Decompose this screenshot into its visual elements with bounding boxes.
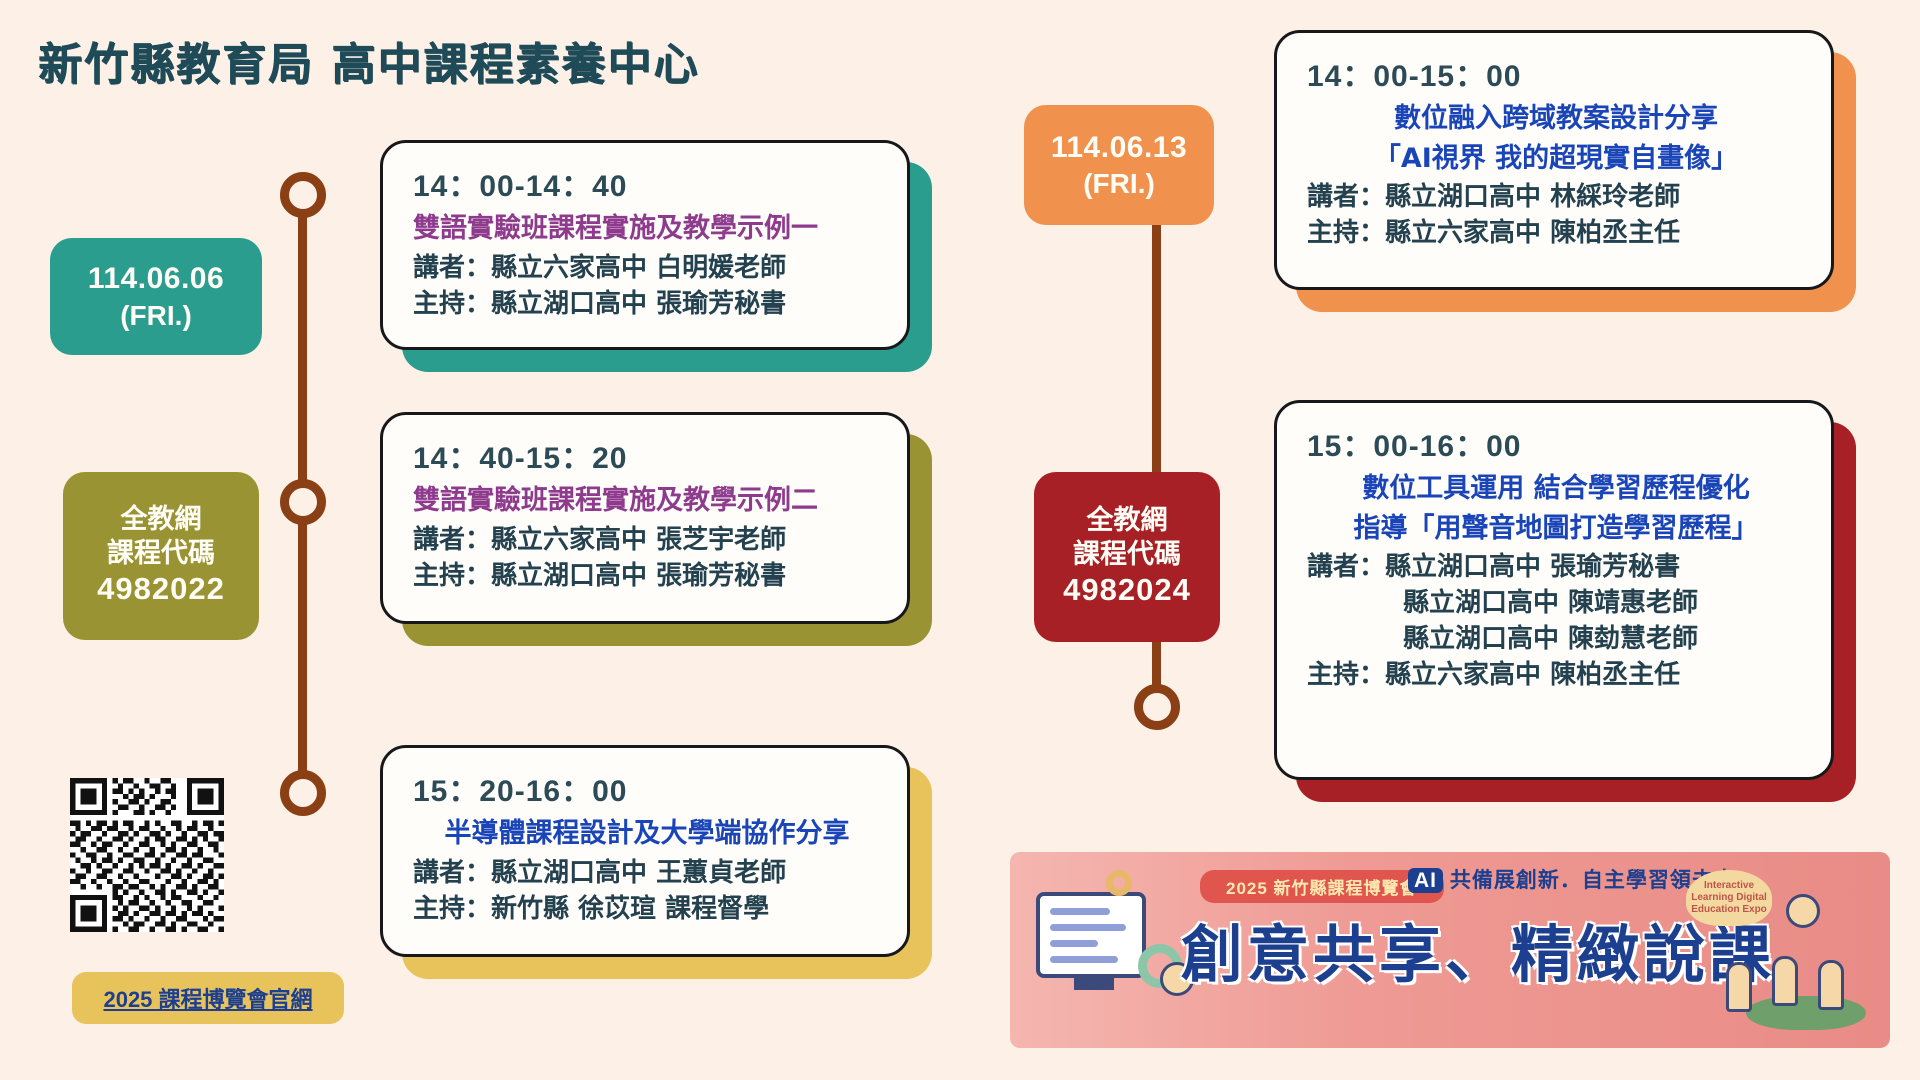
session-time: 15：20-16：00 — [413, 766, 881, 810]
session-speaker-row: 講者：縣立湖口高中 王蕙貞老師 — [413, 856, 881, 892]
session-host-row: 主持：縣立六家高中 陳柏丞主任 — [1307, 658, 1805, 694]
host-label: 主持： — [1307, 660, 1385, 690]
speaker-label: 講者： — [1307, 182, 1385, 212]
promo-banner[interactable]: 2025 新竹縣課程博覽會 AI 共備展創新．自主學習領未來 創意共享、精緻說課… — [1010, 852, 1890, 1048]
timeline-node-left-3 — [280, 770, 326, 816]
session-time: 14：00-14：40 — [413, 161, 881, 205]
monitor-icon — [1036, 892, 1146, 978]
poster-page: 新竹縣教育局 高中課程素養中心 114.06.06 (FRI.) 全教網 課程代… — [0, 0, 1920, 1080]
speaker-value: 縣立湖口高中 王蕙貞老師 — [491, 858, 786, 888]
speaker-value: 縣立六家高中 張芝宇老師 — [491, 525, 786, 555]
session-time: 15：00-16：00 — [1307, 421, 1805, 465]
session-card-left-2[interactable]: 14：40-15：20 雙語實驗班課程實施及教學示例二 講者：縣立六家高中 張芝… — [380, 412, 910, 624]
speaker-label: 講者： — [413, 253, 491, 283]
host-value: 新竹縣 徐苡瑄 課程督學 — [491, 894, 769, 924]
session-host-row: 主持：新竹縣 徐苡瑄 課程督學 — [413, 892, 881, 928]
session-speaker-row-3: 縣立湖口高中 陳勎慧老師 — [1307, 622, 1805, 658]
session-topic: 雙語實驗班課程實施及教學示例一 — [413, 211, 881, 247]
session-host-row: 主持：縣立湖口高中 張瑜芳秘書 — [413, 287, 881, 323]
host-value: 縣立湖口高中 張瑜芳秘書 — [491, 561, 786, 591]
course-code-right-value: 4982024 — [1063, 571, 1191, 610]
page-title: 新竹縣教育局 高中課程素養中心 — [38, 28, 699, 92]
session-speaker-row: 講者：縣立六家高中 張芝宇老師 — [413, 523, 881, 559]
session-card-right-1[interactable]: 14：00-15：00 數位融入跨域教案設計分享 「AI視界 我的超現實自畫像」… — [1274, 30, 1834, 290]
course-code-right-line2: 課程代碼 — [1073, 538, 1181, 572]
session-topic: 雙語實驗班課程實施及教學示例二 — [413, 483, 881, 519]
host-value: 縣立湖口高中 張瑜芳秘書 — [491, 289, 786, 319]
banner-main-text: 創意共享、精緻說課 — [1178, 904, 1778, 994]
course-code-badge-right: 全教網 課程代碼 4982024 — [1034, 472, 1220, 642]
qr-code[interactable] — [70, 778, 224, 932]
speaker-label: 講者： — [413, 858, 491, 888]
timeline-node-right-2 — [1134, 684, 1180, 730]
speaker-label: 講者： — [1307, 552, 1385, 582]
session-topic-line1: 數位工具運用 結合學習歷程優化 — [1307, 471, 1805, 507]
session-card-left-1[interactable]: 14：00-14：40 雙語實驗班課程實施及教學示例一 講者：縣立六家高中 白明… — [380, 140, 910, 350]
date-badge-right: 114.06.13 (FRI.) — [1024, 105, 1214, 225]
speaker-value-3: 縣立湖口高中 陳勎慧老師 — [1403, 624, 1698, 654]
qr-code-image — [70, 778, 224, 932]
course-code-badge-left: 全教網 課程代碼 4982022 — [63, 472, 259, 640]
session-speaker-row-2: 縣立湖口高中 陳靖惠老師 — [1307, 586, 1805, 622]
date-badge-right-date: 114.06.13 — [1051, 129, 1187, 167]
person-icon-2 — [1772, 956, 1798, 1006]
speaker-value-2: 縣立湖口高中 陳靖惠老師 — [1403, 588, 1698, 618]
speaker-value: 縣立六家高中 白明媛老師 — [491, 253, 786, 283]
session-time: 14：00-15：00 — [1307, 51, 1805, 95]
host-label: 主持： — [413, 289, 491, 319]
date-badge-left-weekday: (FRI.) — [120, 298, 192, 333]
session-host-row: 主持：縣立湖口高中 張瑜芳秘書 — [413, 559, 881, 595]
banner-corner-badge: Interactive Learning Digital Education E… — [1686, 870, 1772, 926]
host-label: 主持： — [413, 894, 491, 924]
session-topic-line2: 指導「用聲音地圖打造學習歷程」 — [1307, 511, 1805, 547]
host-value: 縣立六家高中 陳柏丞主任 — [1385, 218, 1680, 248]
speaker-value: 縣立湖口高中 林綵玲老師 — [1385, 182, 1680, 212]
card-body: 14：00-15：00 數位融入跨域教案設計分享 「AI視界 我的超現實自畫像」… — [1274, 30, 1834, 290]
host-value: 縣立六家高中 陳柏丞主任 — [1385, 660, 1680, 690]
course-code-left-value: 4982022 — [97, 570, 225, 609]
course-code-right-line1: 全教網 — [1087, 504, 1168, 538]
date-badge-right-weekday: (FRI.) — [1083, 166, 1155, 201]
gear-icon-small — [1106, 870, 1132, 896]
date-badge-left-date: 114.06.06 — [88, 260, 224, 298]
speaker-label: 講者： — [413, 525, 491, 555]
session-topic-line1: 數位融入跨域教案設計分享 — [1307, 101, 1805, 137]
session-speaker-row: 講者：縣立湖口高中 林綵玲老師 — [1307, 180, 1805, 216]
qr-code-label[interactable]: 2025 課程博覽會官網 — [72, 972, 344, 1024]
session-host-row: 主持：縣立六家高中 陳柏丞主任 — [1307, 216, 1805, 252]
card-body: 15：20-16：00 半導體課程設計及大學端協作分享 講者：縣立湖口高中 王蕙… — [380, 745, 910, 957]
card-body: 14：00-14：40 雙語實驗班課程實施及教學示例一 講者：縣立六家高中 白明… — [380, 140, 910, 350]
date-badge-left: 114.06.06 (FRI.) — [50, 238, 262, 355]
host-label: 主持： — [1307, 218, 1385, 248]
course-code-left-line2: 課程代碼 — [107, 537, 215, 571]
card-body: 14：40-15：20 雙語實驗班課程實施及教學示例二 講者：縣立六家高中 張芝… — [380, 412, 910, 624]
banner-tagline-ai: AI — [1408, 868, 1443, 893]
timeline-node-left-2 — [280, 479, 326, 525]
banner-ribbon: 2025 新竹縣課程博覽會 — [1200, 870, 1444, 903]
table-illustration — [1746, 996, 1866, 1030]
speaker-value: 縣立湖口高中 張瑜芳秘書 — [1385, 552, 1680, 582]
course-code-left-line1: 全教網 — [121, 503, 202, 537]
session-card-left-3[interactable]: 15：20-16：00 半導體課程設計及大學端協作分享 講者：縣立湖口高中 王蕙… — [380, 745, 910, 957]
robot-icon — [1786, 894, 1820, 928]
person-icon-1 — [1818, 960, 1844, 1010]
session-topic-line2: 「AI視界 我的超現實自畫像」 — [1307, 141, 1805, 177]
session-time: 14：40-15：20 — [413, 433, 881, 477]
timeline-node-left-1 — [280, 172, 326, 218]
person-icon-3 — [1726, 962, 1752, 1012]
session-topic: 半導體課程設計及大學端協作分享 — [413, 816, 881, 852]
session-speaker-row: 講者：縣立湖口高中 張瑜芳秘書 — [1307, 550, 1805, 586]
session-speaker-row: 講者：縣立六家高中 白明媛老師 — [413, 251, 881, 287]
card-body: 15：00-16：00 數位工具運用 結合學習歷程優化 指導「用聲音地圖打造學習… — [1274, 400, 1834, 780]
host-label: 主持： — [413, 561, 491, 591]
session-card-right-2[interactable]: 15：00-16：00 數位工具運用 結合學習歷程優化 指導「用聲音地圖打造學習… — [1274, 400, 1834, 780]
